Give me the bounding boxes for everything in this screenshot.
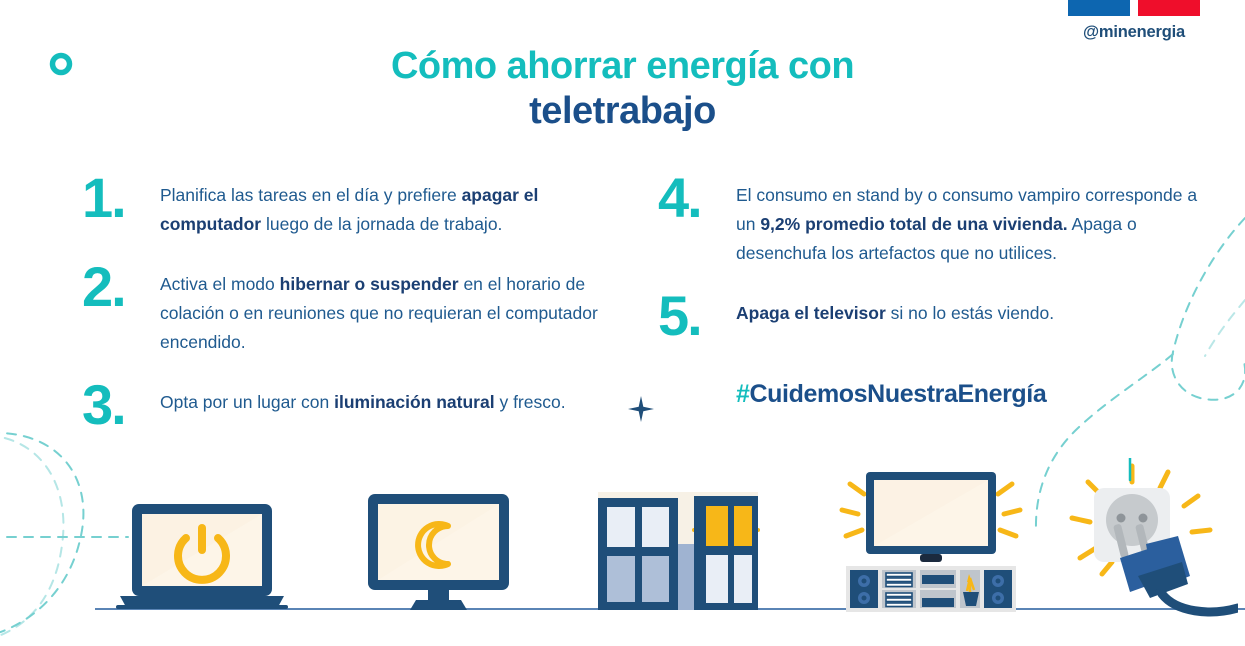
navy-sparkle-icon [628,396,654,422]
infographic-canvas: @minenergia Cómo ahorrar energía con tel… [0,0,1245,646]
laptop-power-icon [112,502,292,612]
tip-number: 3. [82,379,160,431]
tip-text: Activa el modo hibernar o suspender en e… [160,261,622,357]
page-title-line2: teletrabajo [529,90,716,132]
open-window-sun [594,490,762,612]
tip-text-bold: Apaga el televisor [736,303,886,323]
dashed-tick-right [1205,300,1245,356]
flag-red-bar [1138,0,1200,16]
tip-text-plain: luego de la jornada de trabajo. [261,214,502,234]
tip-number: 4. [658,172,736,224]
tip-number: 1. [82,172,160,224]
monitor-moon-icon [366,492,511,612]
tip-text-plain: y fresco. [495,392,566,412]
tip-text-plain: Planifica las tareas en el día y prefier… [160,185,462,205]
tip-number: 5. [658,290,736,342]
tip-text-bold: hibernar o suspender [280,274,459,294]
tip-text-plain: si no lo estás viendo. [886,303,1054,323]
tip-item: 1.Planifica las tareas en el día y prefi… [82,172,622,239]
tip-text: Opta por un lugar con iluminación natura… [160,379,566,417]
tip-text-bold: iluminación natural [334,392,494,412]
chile-flag-logo [1068,0,1200,16]
tip-text: Apaga el televisor si no lo estás viendo… [736,290,1054,328]
tips-column-right: 4.El consumo en stand by o consumo vampi… [658,172,1203,409]
tip-text-bold: 9,2% promedio total de una vivienda. [760,214,1067,234]
tip-item: 5.Apaga el televisor si no lo estás vien… [658,290,1203,342]
tips-column-left: 1.Planifica las tareas en el día y prefi… [82,172,622,453]
illustration-strip [0,440,1245,646]
flag-gap [1130,0,1138,16]
social-handle: @minenergia [1068,23,1200,42]
tip-text-plain: Activa el modo [160,274,280,294]
tip-item: 3.Opta por un lugar con iluminación natu… [82,379,622,431]
tip-text: El consumo en stand by o consumo vampiro… [736,172,1203,268]
tip-text: Planifica las tareas en el día y prefier… [160,172,622,239]
plug-socket [1058,458,1238,618]
brand-block: @minenergia [1068,0,1200,42]
hashtag[interactable]: #CuidemosNuestraEnergía [736,380,1203,409]
television-shelf [836,470,1026,612]
tip-item: 2.Activa el modo hibernar o suspender en… [82,261,622,357]
page-title: Cómo ahorrar energía con teletrabajo [0,44,1245,134]
hashtag-symbol: # [736,380,750,408]
page-title-line1: Cómo ahorrar energía con [391,45,854,87]
flag-blue-bar [1068,0,1130,16]
hashtag-text: CuidemosNuestraEnergía [750,380,1047,408]
tip-item: 4.El consumo en stand by o consumo vampi… [658,172,1203,268]
tip-number: 2. [82,261,160,313]
tip-text-plain: Opta por un lugar con [160,392,334,412]
